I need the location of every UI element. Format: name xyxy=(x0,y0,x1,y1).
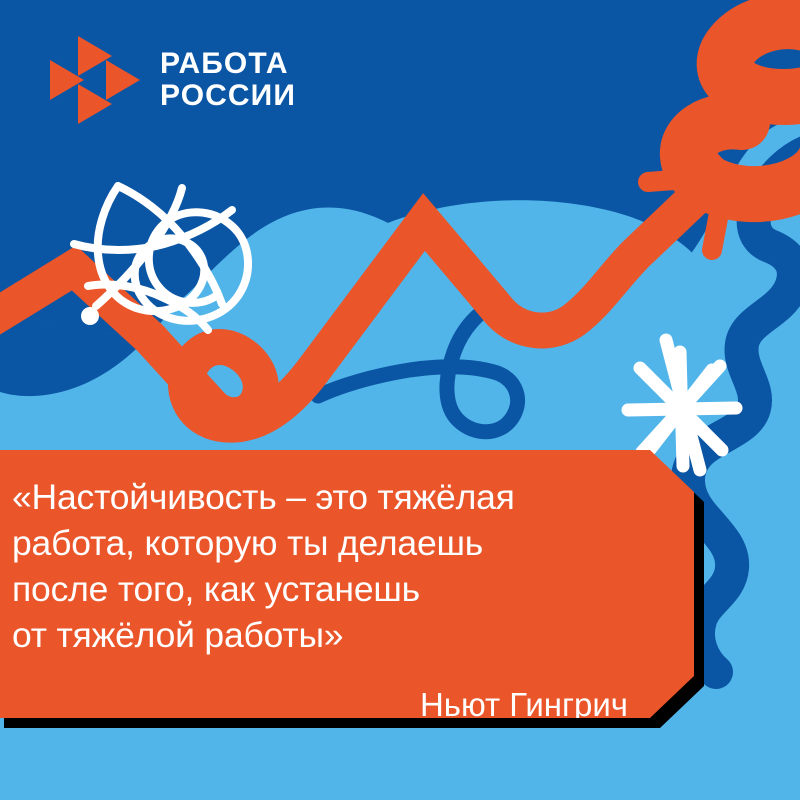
brand-logo[interactable]: РАБОТА РОССИИ xyxy=(50,34,296,126)
rabota-rossii-logo-icon xyxy=(50,34,142,126)
quote-card: «Настойчивость – это тяжёлая работа, кот… xyxy=(0,450,694,740)
quote-card-body: «Настойчивость – это тяжёлая работа, кот… xyxy=(0,450,694,740)
orange-blob-top-right xyxy=(688,21,800,194)
quote-text: «Настойчивость – это тяжёлая работа, кот… xyxy=(12,474,638,659)
poster-canvas: РАБОТА РОССИИ «Настойчивость – это тяжёл… xyxy=(0,0,800,800)
quote-content: «Настойчивость – это тяжёлая работа, кот… xyxy=(12,474,638,724)
brand-name: РАБОТА РОССИИ xyxy=(160,48,296,113)
